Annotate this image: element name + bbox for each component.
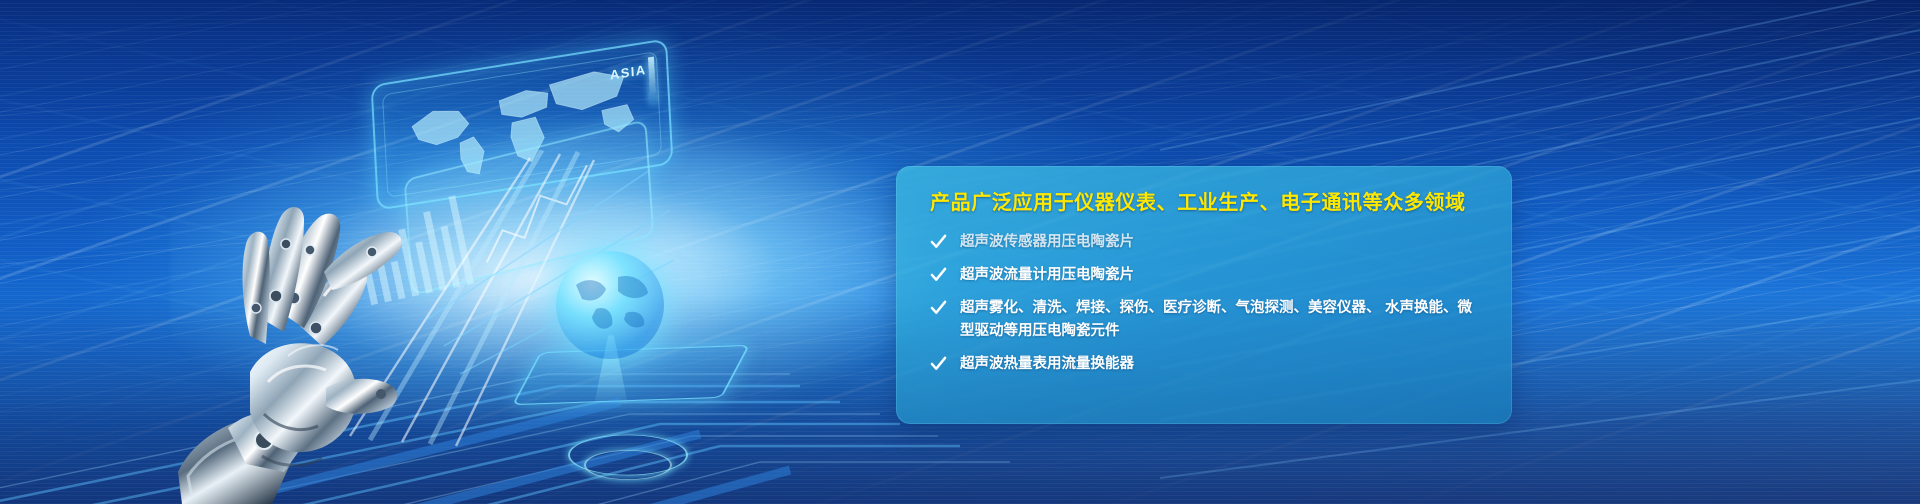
check-icon — [930, 355, 947, 372]
technology-banner: ASIA — [0, 0, 1920, 504]
list-item-label: 超声波流量计用压电陶瓷片 — [960, 264, 1134, 287]
list-item-label: 超声波传感器用压电陶瓷片 — [960, 231, 1134, 254]
check-icon — [930, 266, 947, 283]
check-icon — [930, 299, 947, 316]
list-item: 超声波传感器用压电陶瓷片 — [930, 231, 1480, 254]
info-panel: 产品广泛应用于仪器仪表、工业生产、电子通讯等众多领域 超声波传感器用压电陶瓷片 … — [896, 166, 1512, 424]
check-icon — [930, 233, 947, 250]
list-item-label: 超声波热量表用流量换能器 — [960, 353, 1134, 376]
list-item: 超声波热量表用流量换能器 — [930, 353, 1480, 376]
list-item-group: 超声雾化、清洗、焊接、探伤、医疗诊断、气泡探测、美容仪器、 水声换能、微型驱动等… — [960, 297, 1480, 343]
feature-bullet-list: 超声波传感器用压电陶瓷片 超声波流量计用压电陶瓷片 超声雾化、清洗、焊接、探伤、… — [930, 231, 1480, 376]
panel-headline: 产品广泛应用于仪器仪表、工业生产、电子通讯等众多领域 — [930, 192, 1480, 214]
list-item-label: 超声雾化、清洗、焊接、探伤、医疗诊断、气泡探测、美容仪器、 — [960, 300, 1381, 316]
list-item: 超声波流量计用压电陶瓷片 — [930, 264, 1480, 287]
list-item: 超声雾化、清洗、焊接、探伤、医疗诊断、气泡探测、美容仪器、 水声换能、微型驱动等… — [930, 297, 1480, 343]
